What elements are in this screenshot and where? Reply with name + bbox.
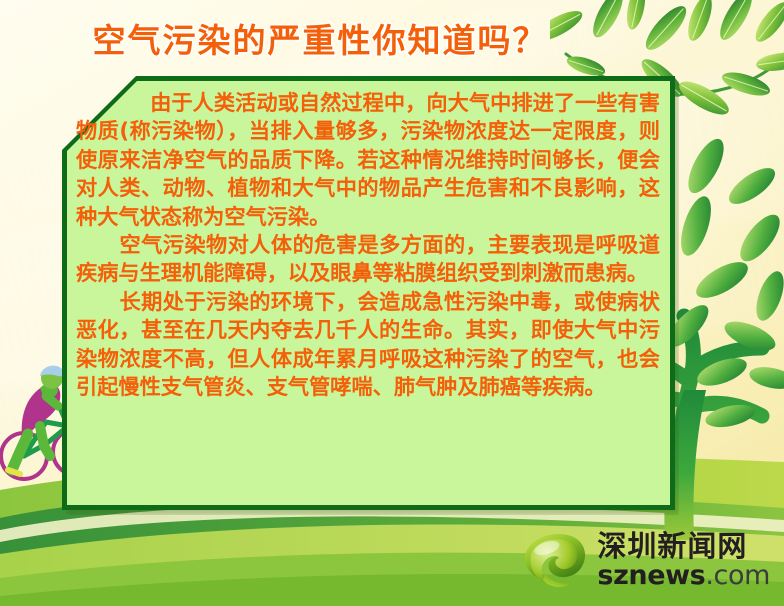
article-body: 由于人类活动或自然过程中，向大气中排进了一些有害物质(称污染物），当排入量够多，… xyxy=(68,82,669,504)
logo-name-en: sznews.com xyxy=(597,562,770,589)
logo-name-cn: 深圳新闻网 xyxy=(597,532,770,561)
content-panel: 由于人类活动或自然过程中，向大气中排进了一些有害物质(称污染物），当排入量够多，… xyxy=(62,76,675,510)
logo-domain: .com xyxy=(705,560,770,591)
paragraph-1: 由于人类活动或自然过程中，向大气中排进了一些有害物质(称污染物），当排入量够多，… xyxy=(76,89,660,231)
green-leaf-swirl-icon xyxy=(523,530,589,590)
poster-canvas: 空气污染的严重性你知道吗？ 由于人类活动或自然过程中，向大气中排进了一些有害物质… xyxy=(0,0,784,606)
paragraph-3: 长期处于污染的环境下，会造成急性污染中毒，或使病状恶化，甚至在几天内夺去几千人的… xyxy=(76,288,660,402)
logo-wordmark: 深圳新闻网 sznews.com xyxy=(597,532,770,589)
page-title: 空气污染的严重性你知道吗？ xyxy=(0,14,640,62)
logo-brand: sznews xyxy=(597,560,705,591)
sznews-logo[interactable]: 深圳新闻网 sznews.com xyxy=(523,522,770,598)
paragraph-2: 空气污染物对人体的危害是多方面的，主要表现是呼吸道疾病与生理机能障碍，以及眼鼻等… xyxy=(76,231,660,288)
